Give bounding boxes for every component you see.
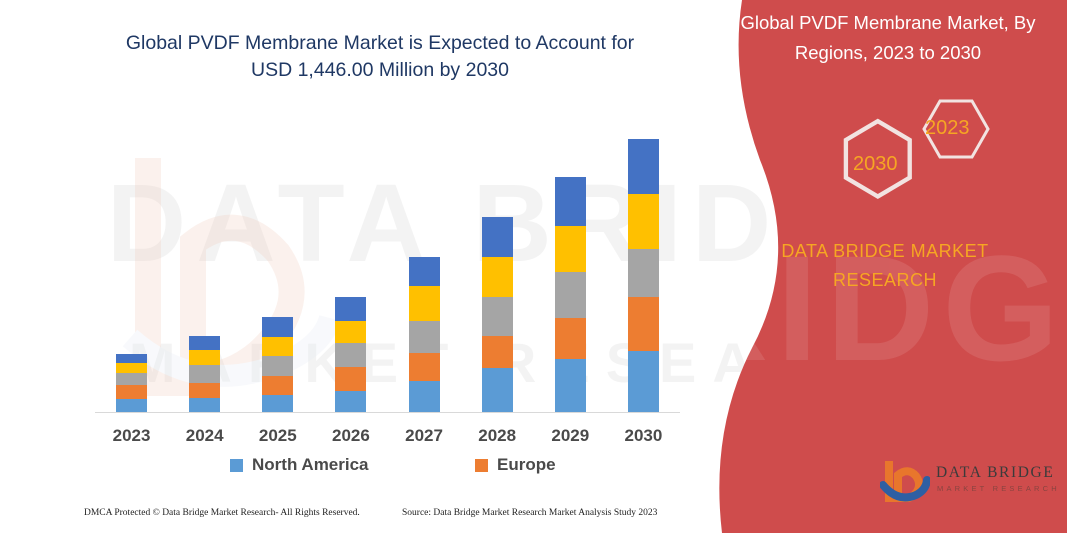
right-panel-title-line2: Regions, 2023 to 2030	[728, 38, 1048, 68]
x-axis-label-2030: 2030	[608, 426, 678, 446]
bar-segment	[116, 385, 147, 399]
bar-segment	[628, 351, 659, 413]
x-axis-label-2025: 2025	[243, 426, 313, 446]
bar-segment	[189, 336, 220, 350]
bar-segment	[116, 373, 147, 385]
bar-segment	[116, 363, 147, 373]
bar-segment	[482, 257, 513, 297]
bar-2029	[555, 177, 586, 413]
legend-swatch-icon	[475, 459, 488, 472]
x-axis-label-2023: 2023	[97, 426, 167, 446]
bar-segment	[262, 395, 293, 413]
legend-label: North America	[252, 455, 369, 475]
legend-label: Europe	[497, 455, 556, 475]
bar-segment	[116, 354, 147, 363]
chart-legend: North AmericaEurope	[95, 455, 680, 483]
brand-name-line2: RESEARCH	[730, 266, 1040, 295]
bar-segment	[409, 321, 440, 353]
bar-2030	[628, 139, 659, 413]
x-axis-line	[95, 412, 680, 413]
bar-segment	[262, 376, 293, 395]
hexagon-group: 2030 2023	[820, 95, 1040, 210]
bar-segment	[482, 368, 513, 413]
legend-item-europe[interactable]: Europe	[475, 455, 556, 475]
bar-segment	[628, 297, 659, 351]
bar-segment	[628, 139, 659, 194]
bar-segment	[555, 359, 586, 413]
right-panel-title: Global PVDF Membrane Market, By Regions,…	[728, 8, 1048, 68]
bar-segment	[409, 353, 440, 381]
x-axis-label-2026: 2026	[316, 426, 386, 446]
bar-segment	[555, 226, 586, 272]
bar-segment	[482, 297, 513, 336]
page-title-line2: USD 1,446.00 Million by 2030	[80, 57, 680, 84]
legend-swatch-icon	[230, 459, 243, 472]
x-axis-label-2029: 2029	[535, 426, 605, 446]
bar-segment	[628, 249, 659, 297]
bar-segment	[335, 367, 366, 391]
logo-subtitle: MARKET RESEARCH	[937, 484, 1060, 493]
right-red-panel: RIDGE Global PVDF Membrane Market, By Re…	[700, 0, 1067, 533]
bar-segment	[262, 356, 293, 376]
bar-2026	[335, 297, 366, 413]
bar-segment	[116, 399, 147, 413]
bar-segment	[555, 177, 586, 226]
bar-2027	[409, 257, 440, 413]
x-axis-label-2024: 2024	[170, 426, 240, 446]
bar-2023	[116, 354, 147, 413]
bar-segment	[482, 336, 513, 368]
page-title-line1: Global PVDF Membrane Market is Expected …	[80, 30, 680, 57]
data-bridge-logo: DATA BRIDGE MARKET RESEARCH	[880, 458, 1055, 506]
x-axis-label-2027: 2027	[389, 426, 459, 446]
bar-segment	[409, 257, 440, 286]
legend-item-north-america[interactable]: North America	[230, 455, 369, 475]
bar-segment	[335, 297, 366, 321]
right-panel-title-line1: Global PVDF Membrane Market, By	[728, 8, 1048, 38]
bar-segment	[482, 217, 513, 257]
bar-segment	[555, 272, 586, 318]
hexagon-2030-label: 2030	[853, 153, 898, 176]
brand-name-line1: DATA BRIDGE MARKET	[730, 237, 1040, 266]
stacked-bar-chart	[95, 120, 680, 413]
bar-segment	[262, 337, 293, 356]
bar-segment	[189, 350, 220, 365]
hexagon-2023-label: 2023	[925, 117, 970, 140]
bar-segment	[335, 391, 366, 413]
bar-segment	[335, 321, 366, 343]
bar-2024	[189, 336, 220, 413]
brand-name: DATA BRIDGE MARKET RESEARCH	[730, 237, 1040, 295]
page-title: Global PVDF Membrane Market is Expected …	[80, 30, 680, 84]
bar-segment	[189, 365, 220, 383]
bar-segment	[628, 194, 659, 249]
bar-segment	[262, 317, 293, 337]
logo-mark-icon	[880, 458, 930, 502]
footer-copyright: DMCA Protected © Data Bridge Market Rese…	[84, 508, 360, 518]
bar-2025	[262, 317, 293, 413]
bar-segment	[189, 398, 220, 413]
bar-segment	[189, 383, 220, 398]
x-axis-tick-labels: 20232024202520262027202820292030	[95, 426, 680, 450]
bar-2028	[482, 217, 513, 413]
footer: DMCA Protected © Data Bridge Market Rese…	[0, 508, 700, 530]
bar-segment	[555, 318, 586, 359]
x-axis-label-2028: 2028	[462, 426, 532, 446]
bar-segment	[409, 286, 440, 321]
footer-source: Source: Data Bridge Market Research Mark…	[402, 508, 657, 518]
logo-name: DATA BRIDGE	[936, 464, 1054, 482]
bar-segment	[335, 343, 366, 367]
infographic-page: DATA BRIDGE MARKET RESEARCH Global PVDF …	[0, 0, 1067, 533]
bar-segment	[409, 381, 440, 413]
